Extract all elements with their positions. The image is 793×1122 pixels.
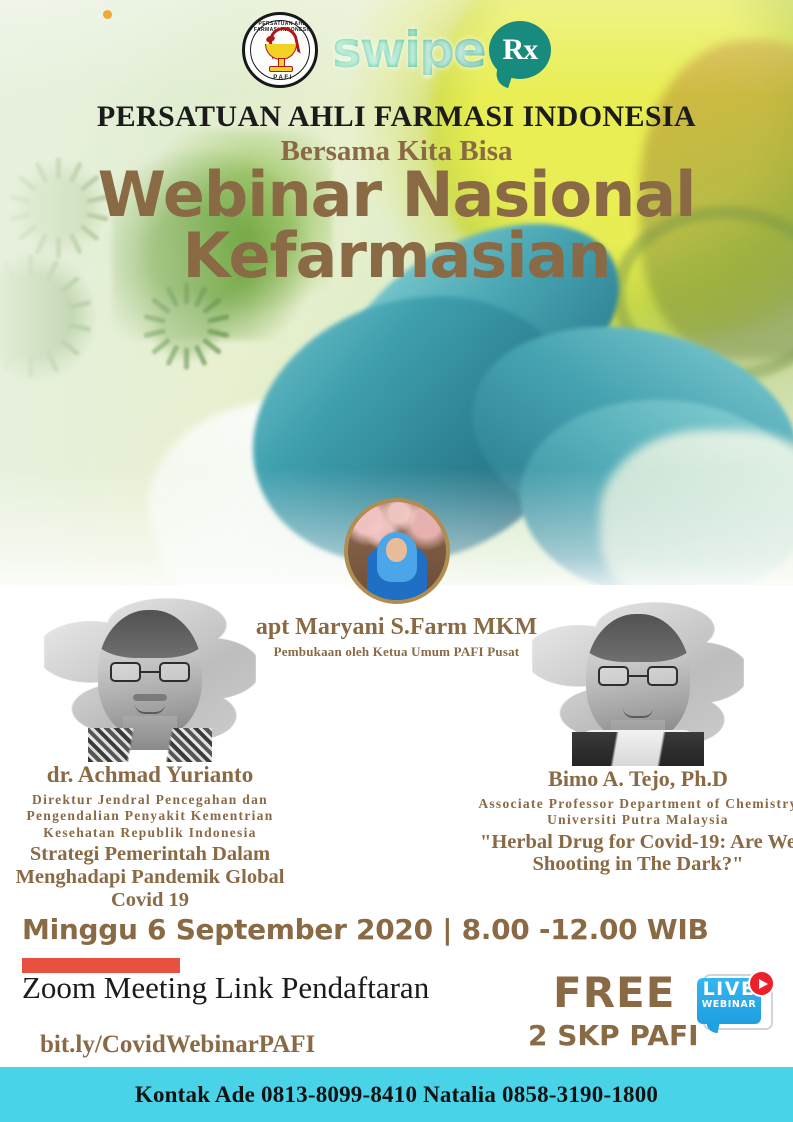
pafi-logo: PERSATUAN AHLI FARMASI INDONESIA PAFI [242, 12, 318, 88]
hair [98, 610, 202, 658]
rx-label: Rx [503, 33, 538, 67]
play-button-icon [748, 970, 775, 997]
suit-jacket [572, 732, 704, 766]
speaker-right: Bimo A. Tejo, Ph.D Associate Professor D… [478, 592, 793, 876]
registration-label: Zoom Meeting Link Pendaftaran [22, 970, 429, 1006]
bowl-of-hygieia-icon [260, 30, 300, 70]
webinar-poster: PERSATUAN AHLI FARMASI INDONESIA PAFI sw… [0, 0, 793, 1122]
hair [586, 614, 690, 662]
center-speaker-face [386, 538, 407, 562]
moustache [133, 694, 167, 701]
skp-credits-label: 2 SKP PAFI [528, 1019, 699, 1052]
pafi-logo-bottom-text: PAFI [245, 75, 318, 81]
speaker-right-name: Bimo A. Tejo, Ph.D [478, 766, 793, 792]
speaker-left-affiliation: Direktur Jendral Pencegahan dan Pengenda… [0, 792, 310, 841]
glasses-icon [598, 666, 678, 686]
free-label: FREE [553, 968, 675, 1017]
mouth [135, 704, 165, 714]
main-title-line2: Kefarmasian [0, 226, 793, 287]
badge-webinar-label: WEBINAR [697, 999, 761, 1010]
swipe-wordmark: swipe [332, 25, 485, 75]
rx-speech-bubble-icon: Rx [489, 21, 551, 79]
speaker-left-topic: Strategi Pemerintah Dalam Menghadapi Pan… [0, 843, 310, 911]
glasses-icon [110, 662, 190, 682]
schedule-line: Minggu 6 September 2020 | 8.00 -12.00 WI… [22, 913, 709, 946]
swiperx-logo: swipe Rx [332, 21, 551, 79]
speaker-left: dr. Achmad Yurianto Direktur Jendral Pen… [0, 588, 310, 911]
mouth [623, 708, 653, 718]
logo-row: PERSATUAN AHLI FARMASI INDONESIA PAFI sw… [0, 8, 793, 92]
live-webinar-badge-icon: LIVE WEBINAR [697, 972, 775, 1034]
cup-foot-icon [269, 66, 293, 72]
speaker-right-portrait [532, 592, 744, 760]
batik-shirt [88, 728, 212, 762]
main-title: Webinar Nasional Kefarmasian [0, 165, 793, 287]
speaker-right-affiliation: Associate Professor Department of Chemis… [478, 796, 793, 829]
speaker-left-name: dr. Achmad Yurianto [0, 762, 310, 788]
speaker-right-topic: "Herbal Drug for Covid-19: Are We Shooti… [478, 831, 793, 876]
registration-link[interactable]: bit.ly/CovidWebinarPAFI [40, 1031, 315, 1059]
swipe-dot-icon [103, 10, 112, 19]
contact-text: Kontak Ade 0813-8099-8410 Natalia 0858-3… [135, 1082, 658, 1108]
organization-title: PERSATUAN AHLI FARMASI INDONESIA [0, 100, 793, 134]
speaker-left-portrait [44, 588, 256, 756]
contact-footer: Kontak Ade 0813-8099-8410 Natalia 0858-3… [0, 1067, 793, 1122]
center-speaker-avatar [344, 498, 450, 604]
